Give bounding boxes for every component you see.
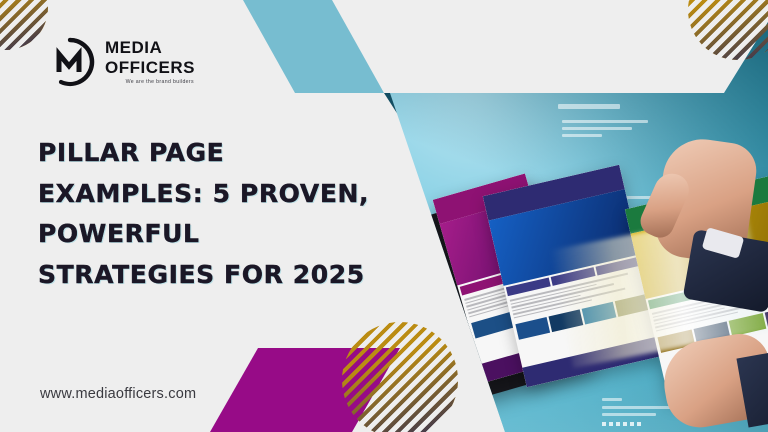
screen-text-line <box>562 127 632 130</box>
striped-circle-top-left-icon <box>0 0 48 50</box>
headline-line-4: STRATEGIES FOR 2025 <box>38 255 378 296</box>
banner-canvas: MEDIA OFFICERS We are the brand builders… <box>0 0 768 432</box>
screen-text-line <box>562 134 602 137</box>
website-url[interactable]: www.mediaofficers.com <box>40 386 196 402</box>
screen-text-line <box>558 104 620 109</box>
screen-rating-dots <box>602 422 641 426</box>
brand-wordmark: MEDIA OFFICERS We are the brand builders <box>105 39 195 85</box>
page-title: PILLAR PAGE EXAMPLES: 5 PROVEN, POWERFUL… <box>38 133 378 295</box>
screen-text-line <box>602 398 622 401</box>
brand-name-line1: MEDIA <box>105 39 195 56</box>
brand-logo[interactable]: MEDIA OFFICERS We are the brand builders <box>44 36 195 88</box>
headline-line-3: POWERFUL <box>38 214 378 255</box>
brand-tagline: We are the brand builders <box>126 80 195 85</box>
circle-m-monogram-icon <box>44 36 96 88</box>
headline-line-2: EXAMPLES: 5 PROVEN, <box>38 174 378 215</box>
brand-name-line2: OFFICERS <box>105 59 195 76</box>
screen-text-line <box>562 120 648 123</box>
screen-text-line <box>602 413 656 416</box>
striped-circle-bottom-icon <box>342 322 458 432</box>
headline-line-1: PILLAR PAGE <box>38 133 378 174</box>
striped-circle-top-right-icon <box>688 0 768 60</box>
